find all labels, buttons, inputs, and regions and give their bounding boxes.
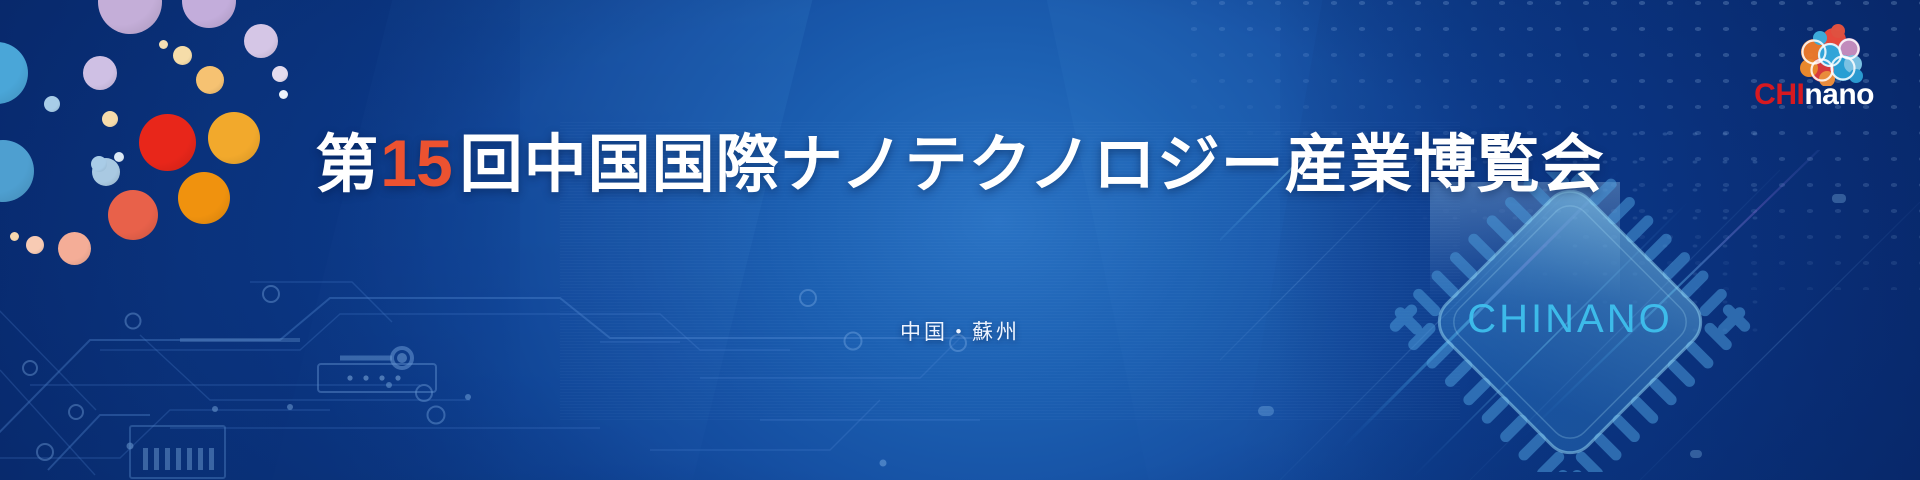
bubble-lilac-4 [83,56,117,90]
bubble-peach-1 [58,232,91,265]
bubble-cream-1 [173,46,192,65]
bubble-orange-1 [196,66,224,94]
logo-wordmark: CHInano [1754,80,1874,110]
bubble-teal-edge [0,42,28,104]
bubble-cream-2 [102,111,118,127]
circuit-trace-pattern [0,280,980,480]
molecular-cluster-icon [1794,24,1868,86]
page-title: 第15回中国国際ナノテクノロジー産業博覧会 [0,130,1920,197]
title-edition-number: 15 [378,126,453,200]
bubble-salmon-big [108,190,158,240]
title-suffix: 回中国国際ナノテクノロジー産業博覧会 [454,130,1605,200]
chinano-logo[interactable]: CHInano [1714,24,1874,124]
bubble-white-dot-1 [279,90,288,99]
logo-text-chi: CHI [1754,78,1804,111]
event-location: 中国・蘇州 [0,316,1920,346]
bubble-lilac-3 [244,24,278,58]
bubble-lilac-2 [182,0,236,28]
logo-text-nano: nano [1804,78,1874,111]
title-prefix: 第 [315,130,378,200]
bubble-peach-dot [10,232,19,241]
bubble-peach-2 [26,236,44,254]
bubble-white-1 [272,66,288,82]
event-banner: CHINANO [0,0,1920,480]
bubble-lilac-1 [98,0,162,34]
bubble-lightblue-1 [44,96,60,112]
bubble-cream-dot-1 [159,40,168,49]
